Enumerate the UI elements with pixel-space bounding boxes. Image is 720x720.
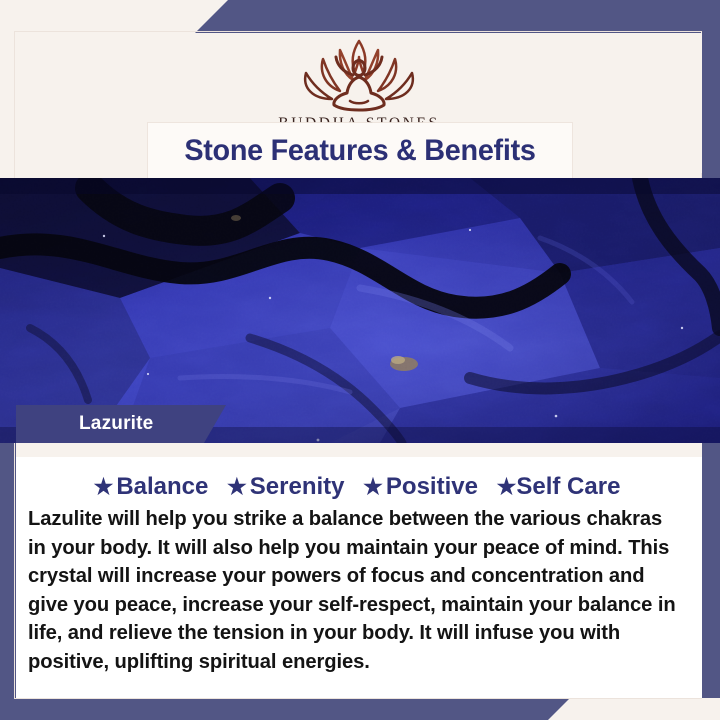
stone-name: Lazurite <box>79 413 153 435</box>
benefit-item: ★Self Care <box>489 473 625 500</box>
content-panel: ★Balance ★Serenity ★Positive ★Self Care … <box>16 443 702 698</box>
benefit-item: ★Balance <box>94 473 213 500</box>
benefit-label: Positive <box>386 473 478 500</box>
star-icon: ★ <box>363 474 383 499</box>
benefit-item: ★Positive <box>355 473 482 500</box>
brand-logo: BUDDHA STONES <box>16 33 702 133</box>
benefits-row: ★Balance ★Serenity ★Positive ★Self Care <box>16 473 702 501</box>
benefit-label: Self Care <box>516 473 620 500</box>
benefit-label: Serenity <box>250 473 345 500</box>
star-icon: ★ <box>227 474 247 499</box>
top-band-fill <box>195 0 720 33</box>
page-title: Stone Features & Benefits <box>184 134 535 168</box>
benefit-label: Balance <box>116 473 208 500</box>
stone-description: Lazulite will help you strike a balance … <box>28 505 680 676</box>
star-icon: ★ <box>94 474 114 499</box>
star-icon: ★ <box>497 474 517 499</box>
bottom-decorative-band <box>0 698 720 720</box>
stone-name-tag: Lazurite <box>16 405 226 443</box>
page-title-plate: Stone Features & Benefits <box>148 123 572 178</box>
top-decorative-band <box>0 0 720 33</box>
stone-photo <box>0 178 720 443</box>
content-cream-strip <box>16 443 702 457</box>
poster-root: BUDDHA STONES Stone Features & Benefits <box>0 0 720 720</box>
bottom-band-fill <box>0 698 570 720</box>
benefit-item: ★Serenity <box>219 473 348 500</box>
lotus-meditation-icon <box>284 37 434 113</box>
